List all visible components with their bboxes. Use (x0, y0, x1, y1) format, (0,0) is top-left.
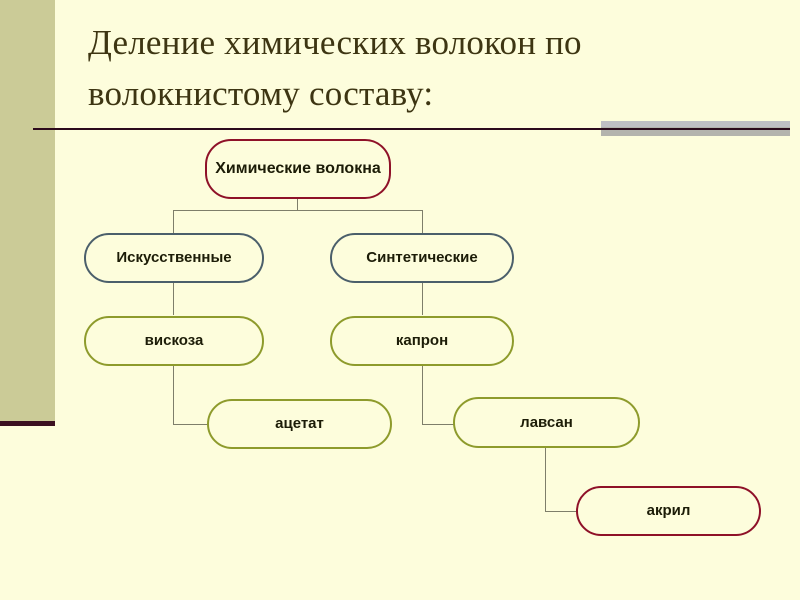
connector-kapron-to-lavsan-vertical (422, 366, 423, 424)
left-band-bottom-rule (0, 421, 55, 426)
connector-viscose-to-acetate-horizontal (173, 424, 209, 425)
corner-decorative-plate-highlight (601, 121, 790, 127)
left-decorative-band (0, 0, 55, 421)
connector-root-bus (173, 210, 423, 211)
connector-lavsan-to-acryl-horizontal (545, 511, 578, 512)
slide-canvas: Деление химических волокон по волокнисто… (0, 0, 800, 600)
connector-root-to-synthetic (422, 210, 423, 234)
node-viscose[interactable]: вискоза (84, 316, 264, 366)
connector-lavsan-to-acryl-vertical (545, 448, 546, 511)
connector-kapron-to-lavsan-horizontal (422, 424, 455, 425)
connector-root-to-artificial (173, 210, 174, 234)
node-acetate[interactable]: ацетат (207, 399, 392, 449)
connector-artificial-to-viscose (173, 282, 174, 315)
node-chemical-fibers[interactable]: Химические волокна (205, 139, 391, 199)
title-divider-rule (33, 128, 790, 130)
node-artificial[interactable]: Искусственные (84, 233, 264, 283)
connector-synthetic-to-kapron (422, 282, 423, 315)
node-synthetic[interactable]: Синтетические (330, 233, 514, 283)
node-acryl[interactable]: акрил (576, 486, 761, 536)
slide-title: Деление химических волокон по волокнисто… (88, 18, 778, 120)
connector-viscose-to-acetate-vertical (173, 366, 174, 424)
node-kapron[interactable]: капрон (330, 316, 514, 366)
node-lavsan[interactable]: лавсан (453, 397, 640, 448)
